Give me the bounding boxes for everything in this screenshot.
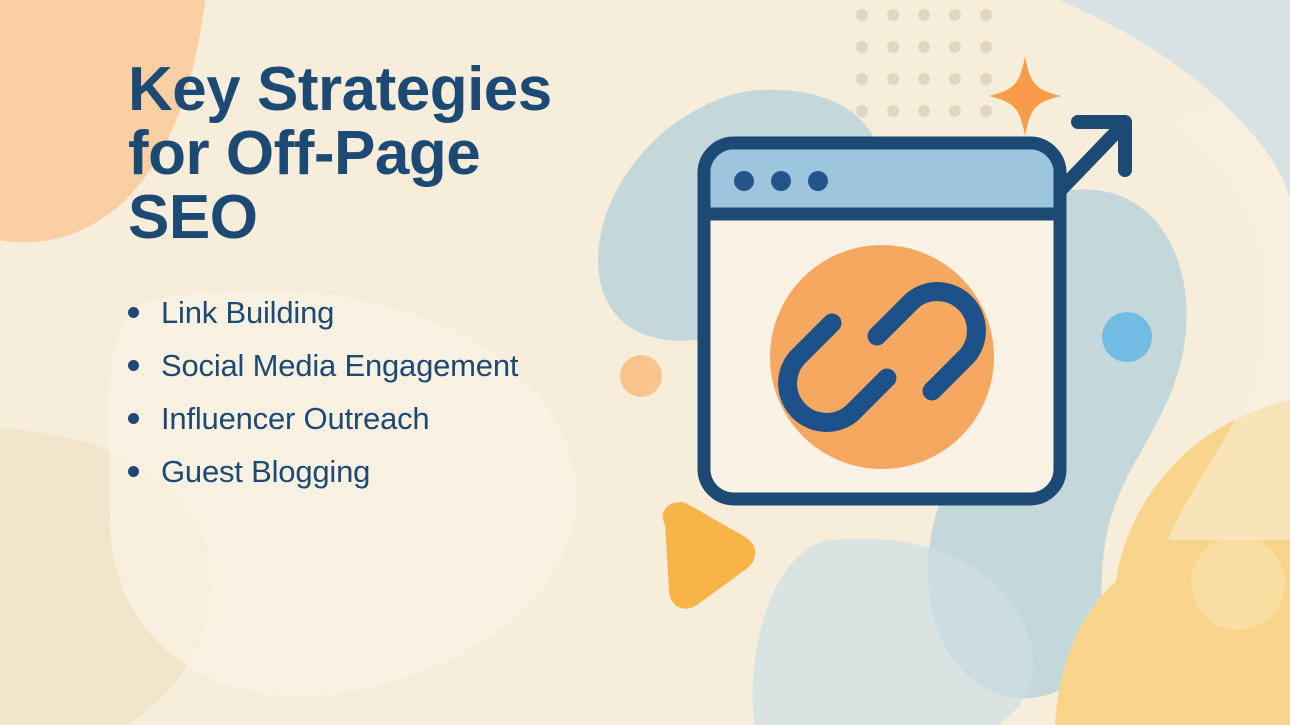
blue-circle [1102,312,1152,362]
list-item-label: Social Media Engagement [161,349,518,383]
cream-wedge-right [1160,80,1290,540]
browser-window-body [704,143,1060,499]
list-item: Influencer Outreach [128,402,688,436]
list-item-label: Influencer Outreach [161,402,429,436]
browser-window [704,143,1060,499]
browser-title-bar [710,150,1053,215]
bullet-dot-icon [128,413,139,424]
dot-grid-pattern [856,9,992,117]
link-icon-backdrop [770,245,994,469]
list-item-label: Guest Blogging [161,455,370,489]
bullet-dot-icon [128,466,139,477]
list-item: Guest Blogging [128,455,688,489]
pale-blue-sliver-top-right [1010,0,1290,200]
gold-inner-circle [1191,536,1285,630]
strategy-list: Link Building Social Media Engagement In… [128,296,688,489]
gold-blob-bottom-right-extension [1055,520,1290,725]
bullet-dot-icon [128,307,139,318]
window-dot-2 [771,171,791,191]
gold-blob-bottom-right [1113,395,1290,725]
window-dot-1 [734,171,754,191]
list-item: Link Building [128,296,688,330]
list-item-label: Link Building [161,296,334,330]
triangle-shape [674,513,744,598]
browser-window-dots [734,171,828,191]
sparkle-icon [989,56,1061,136]
page-title: Key Strategies for Off-Page SEO [128,58,688,250]
infographic-slide: Key Strategies for Off-Page SEO Link Bui… [0,0,1290,725]
text-content-block: Key Strategies for Off-Page SEO Link Bui… [128,58,688,508]
window-dot-3 [808,171,828,191]
chain-link-icon [788,292,977,423]
blue-gray-blob-right [928,189,1187,698]
growth-arrow-icon [1020,122,1125,232]
bullet-dot-icon [128,360,139,371]
blue-gray-blob-bottom-center [753,538,1033,725]
list-item: Social Media Engagement [128,349,688,383]
